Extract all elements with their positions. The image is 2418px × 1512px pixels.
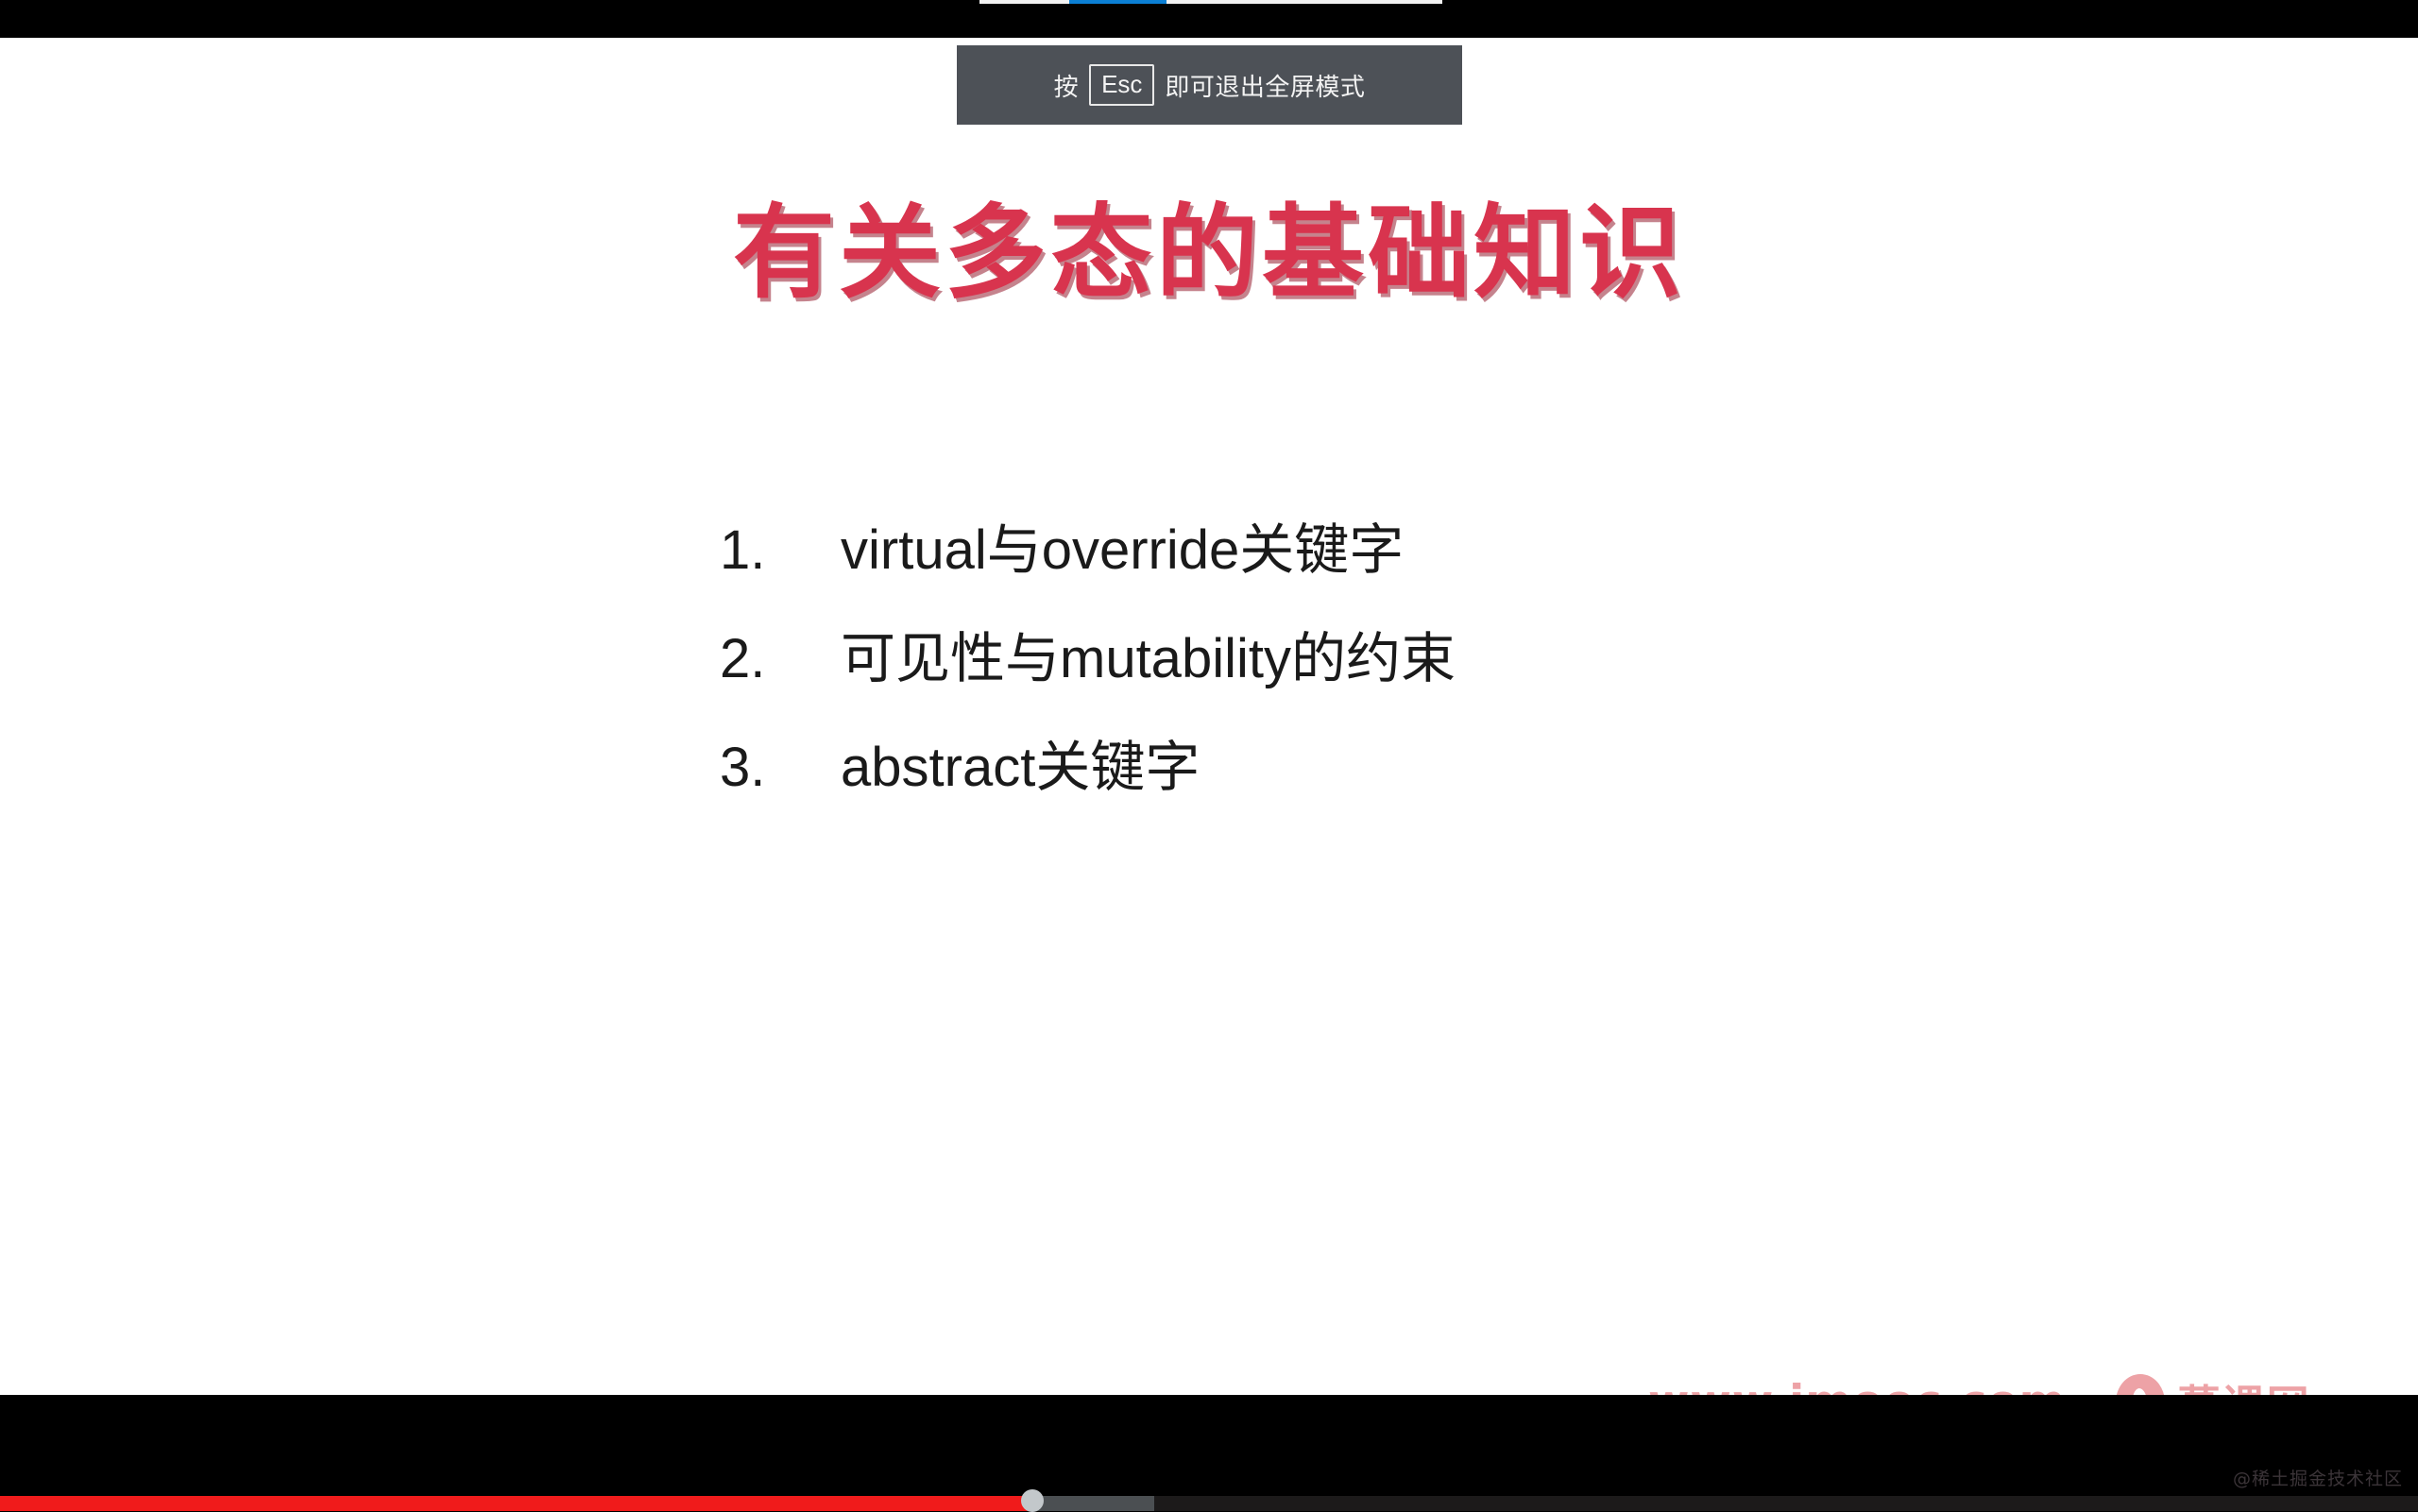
- list-item: 2. 可见性与mutability的约束: [720, 614, 2137, 722]
- page-loading-strip-fill: [1069, 0, 1166, 4]
- slide-canvas: 有关多态的基础知识 1. virtual与override关键字 2. 可见性与…: [0, 38, 2418, 1395]
- list-item-text: 可见性与mutability的约束: [841, 614, 1456, 693]
- progress-bar-played: [0, 1496, 1032, 1511]
- list-item: 3. abstract关键字: [720, 722, 2137, 831]
- list-item-number: 2.: [720, 627, 841, 690]
- watermark-text: @稀土掘金技术社区: [2233, 1465, 2403, 1490]
- progress-bar-handle[interactable]: [1021, 1489, 1044, 1512]
- exit-fullscreen-hint: 按 Esc 即可退出全屏模式: [957, 45, 1462, 125]
- list-item: 1. virtual与override关键字: [720, 505, 2137, 614]
- list-item-text: abstract关键字: [841, 722, 1200, 802]
- list-item-number: 1.: [720, 518, 841, 582]
- list-item-number: 3.: [720, 736, 841, 799]
- esc-key-badge: Esc: [1089, 64, 1154, 106]
- hint-suffix-text: 即可退出全屏模式: [1165, 68, 1365, 103]
- hint-prefix-text: 按: [1054, 68, 1080, 103]
- list-item-text: virtual与override关键字: [841, 505, 1404, 585]
- player-control-bar: [0, 1395, 2418, 1511]
- slide-bullet-list: 1. virtual与override关键字 2. 可见性与mutability…: [720, 505, 2137, 831]
- video-player-fullscreen: 有关多态的基础知识 1. virtual与override关键字 2. 可见性与…: [0, 0, 2418, 1511]
- progress-bar-track[interactable]: [0, 1496, 2418, 1511]
- slide-title: 有关多态的基础知识: [0, 200, 2418, 307]
- page-loading-strip: [979, 0, 1442, 4]
